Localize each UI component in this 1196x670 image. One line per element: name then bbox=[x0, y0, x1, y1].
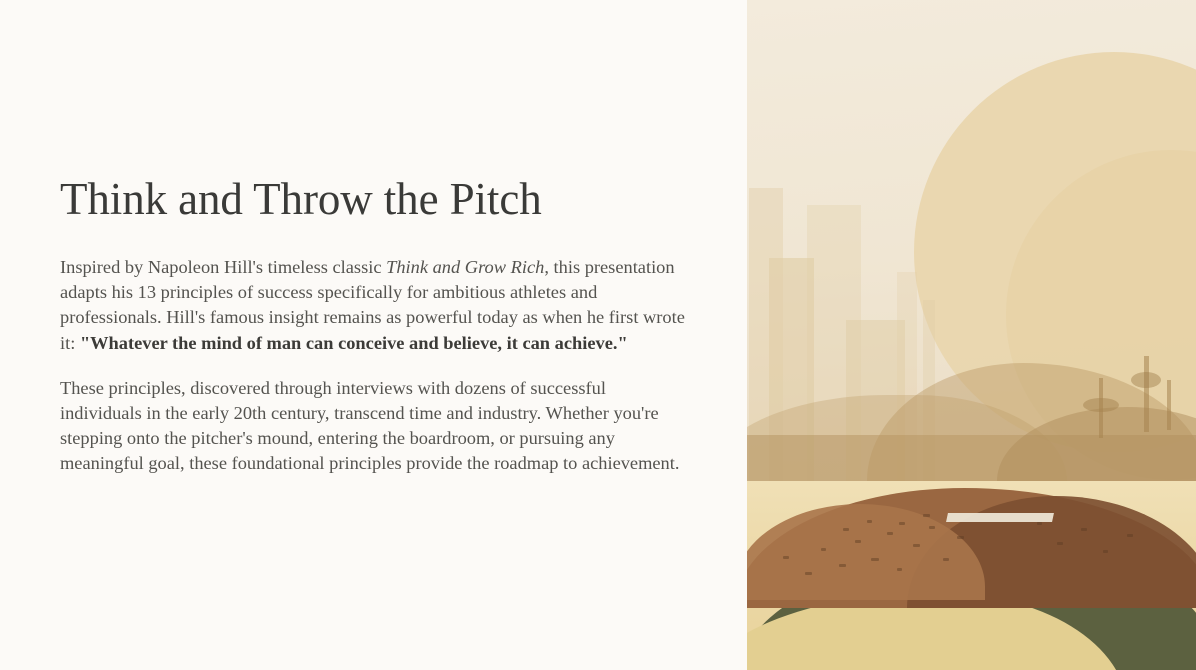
intro-paragraph: Inspired by Napoleon Hill's timeless cla… bbox=[60, 255, 685, 356]
tree-trunk-2-icon bbox=[1144, 356, 1149, 432]
tree-trunk-3-icon bbox=[1167, 380, 1171, 430]
slide-root: Think and Throw the Pitch Inspired by Na… bbox=[0, 0, 1196, 670]
content-block: Think and Throw the Pitch Inspired by Na… bbox=[60, 175, 685, 476]
mound-dirt-texture bbox=[747, 470, 1196, 670]
illustration-panel bbox=[747, 0, 1196, 670]
intro-lead-text: Inspired by Napoleon Hill's timeless cla… bbox=[60, 257, 386, 277]
page-title: Think and Throw the Pitch bbox=[60, 175, 685, 225]
tree-canopy-1-icon bbox=[1083, 398, 1119, 412]
text-panel: Think and Throw the Pitch Inspired by Na… bbox=[0, 0, 747, 670]
tree-canopy-2-icon bbox=[1131, 372, 1161, 388]
summary-paragraph: These principles, discovered through int… bbox=[60, 376, 685, 477]
book-title-italic: Think and Grow Rich bbox=[386, 257, 544, 277]
hill-quote: "Whatever the mind of man can conceive a… bbox=[80, 333, 628, 353]
